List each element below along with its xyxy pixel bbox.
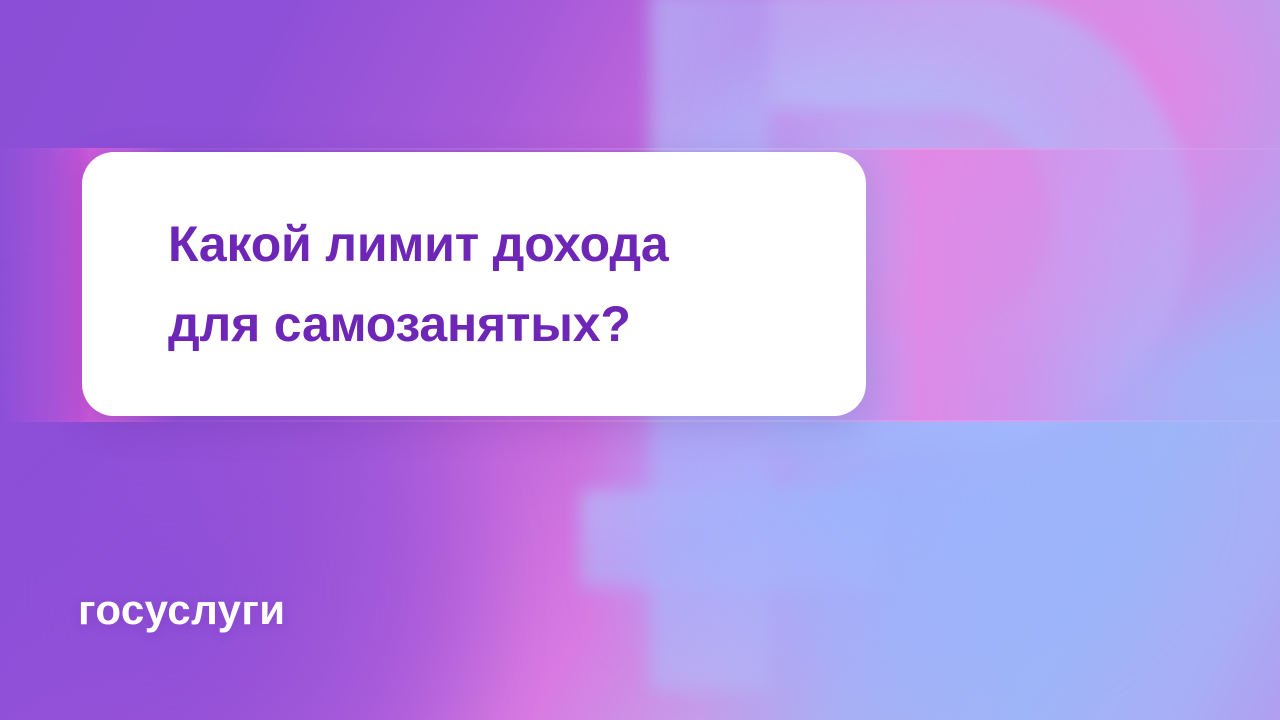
band-top-edge: [0, 148, 1280, 150]
card-title: Какой лимит дохода для самозанятых?: [82, 204, 709, 364]
question-card: Какой лимит дохода для самозанятых?: [82, 152, 866, 416]
band-bottom-edge: [0, 420, 1280, 422]
gosuslugi-logo: госуслуги: [78, 589, 285, 631]
promo-slide: Какой лимит дохода для самозанятых? госу…: [0, 0, 1280, 720]
